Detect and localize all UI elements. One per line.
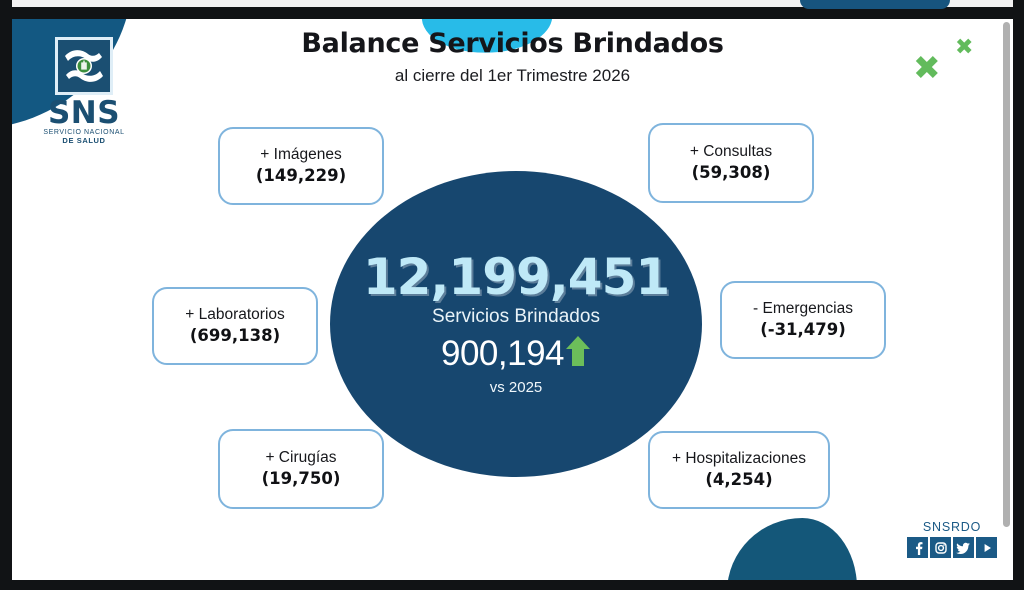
metric-card-emergencias[interactable]: - Emergencias (-31,479) bbox=[720, 281, 886, 359]
metric-card-imagenes[interactable]: + Imágenes (149,229) bbox=[218, 127, 384, 205]
metric-label: - Emergencias bbox=[753, 299, 853, 318]
social-handle: SNSRDO bbox=[907, 520, 997, 534]
decor-bottom-blue-blob bbox=[727, 518, 857, 580]
total-services-label: Servicios Brindados bbox=[432, 306, 600, 329]
video-player-viewport: SNS SERVICIO NACIONAL DE SALUD Balance S… bbox=[0, 0, 1024, 590]
sns-logo-line2: DE SALUD bbox=[32, 137, 136, 146]
metric-value: (-31,479) bbox=[760, 319, 846, 340]
player-frame-left bbox=[0, 0, 12, 590]
player-frame-right bbox=[1013, 0, 1024, 590]
twitter-icon[interactable] bbox=[953, 537, 974, 558]
social-footer: SNSRDO bbox=[907, 520, 997, 558]
green-cross-large-icon: ✖ bbox=[913, 51, 941, 84]
metric-label: + Cirugías bbox=[265, 448, 336, 467]
player-frame-bottom bbox=[0, 580, 1024, 590]
social-icon-list bbox=[907, 537, 997, 558]
page-title: Balance Servicios Brindados bbox=[12, 27, 1013, 61]
comparison-label: vs 2025 bbox=[490, 379, 543, 397]
total-services-value: 12,199,451 bbox=[363, 251, 669, 304]
metric-card-hospitalizaciones[interactable]: + Hospitalizaciones (4,254) bbox=[648, 431, 830, 509]
delta-value: 900,194 bbox=[441, 336, 564, 371]
metric-value: (59,308) bbox=[692, 162, 771, 183]
total-services-circle: 12,199,451 Servicios Brindados 900,194 v… bbox=[330, 171, 702, 477]
youtube-icon[interactable] bbox=[976, 537, 997, 558]
decor-green-crosses: ✖ ✖ bbox=[911, 33, 991, 83]
metric-value: (149,229) bbox=[256, 165, 346, 186]
metric-label: + Hospitalizaciones bbox=[672, 449, 806, 468]
page-scrollbar[interactable] bbox=[1003, 22, 1010, 567]
arrow-up-icon bbox=[565, 335, 591, 372]
metric-label: + Laboratorios bbox=[185, 305, 285, 324]
sns-logo-acronym: SNS bbox=[32, 98, 136, 129]
metric-card-cirugias[interactable]: + Cirugías (19,750) bbox=[218, 429, 384, 509]
slide-header: Balance Servicios Brindados al cierre de… bbox=[12, 27, 1013, 86]
facebook-icon[interactable] bbox=[907, 537, 928, 558]
metric-card-laboratorios[interactable]: + Laboratorios (699,138) bbox=[152, 287, 318, 365]
instagram-icon[interactable] bbox=[930, 537, 951, 558]
presentation-slide: SNS SERVICIO NACIONAL DE SALUD Balance S… bbox=[12, 19, 1013, 580]
page-subtitle: al cierre del 1er Trimestre 2026 bbox=[12, 66, 1013, 86]
scrollbar-thumb[interactable] bbox=[1003, 22, 1010, 527]
metric-value: (19,750) bbox=[262, 468, 341, 489]
green-cross-small-icon: ✖ bbox=[955, 37, 973, 59]
metric-label: + Consultas bbox=[690, 142, 772, 161]
metric-label: + Imágenes bbox=[260, 145, 341, 164]
delta-row: 900,194 bbox=[441, 335, 591, 372]
decor-top-right-blue-blob bbox=[800, 0, 950, 9]
metric-card-consultas[interactable]: + Consultas (59,308) bbox=[648, 123, 814, 203]
metric-value: (699,138) bbox=[190, 325, 280, 346]
metric-value: (4,254) bbox=[705, 469, 772, 490]
